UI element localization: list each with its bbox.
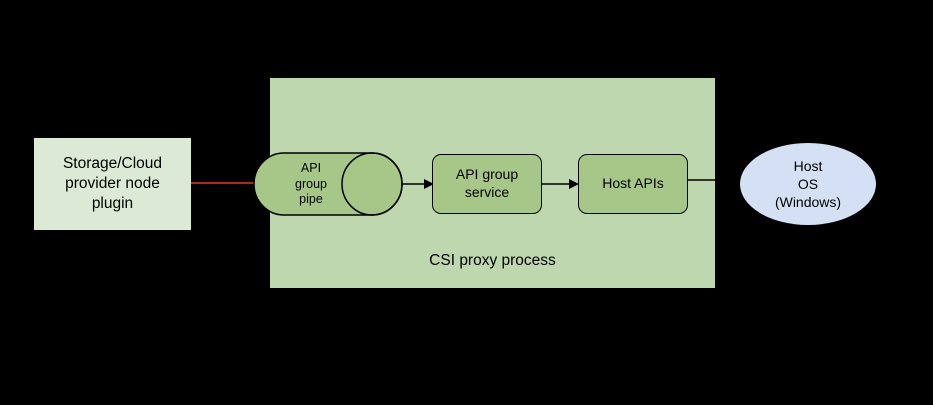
api-group-service-label: API group service: [456, 166, 518, 201]
host-apis-label: Host APIs: [602, 175, 663, 193]
host-os-label: Host OS (Windows): [775, 157, 841, 212]
api-group-pipe-label: API group pipe: [259, 161, 363, 208]
host-os-ellipse[interactable]: Host OS (Windows): [739, 142, 877, 226]
csi-proxy-process-label: CSI proxy process: [270, 252, 715, 270]
api-group-service-box[interactable]: API group service: [432, 154, 542, 214]
host-apis-box[interactable]: Host APIs: [578, 154, 688, 214]
storage-cloud-provider-node-plugin-label: Storage/Cloud provider node plugin: [63, 154, 162, 213]
diagram-canvas: CSI proxy process Storage/Cloud provider…: [0, 0, 933, 405]
storage-cloud-provider-node-plugin-box[interactable]: Storage/Cloud provider node plugin: [33, 137, 192, 231]
api-group-pipe-shape[interactable]: API group pipe: [253, 152, 403, 216]
